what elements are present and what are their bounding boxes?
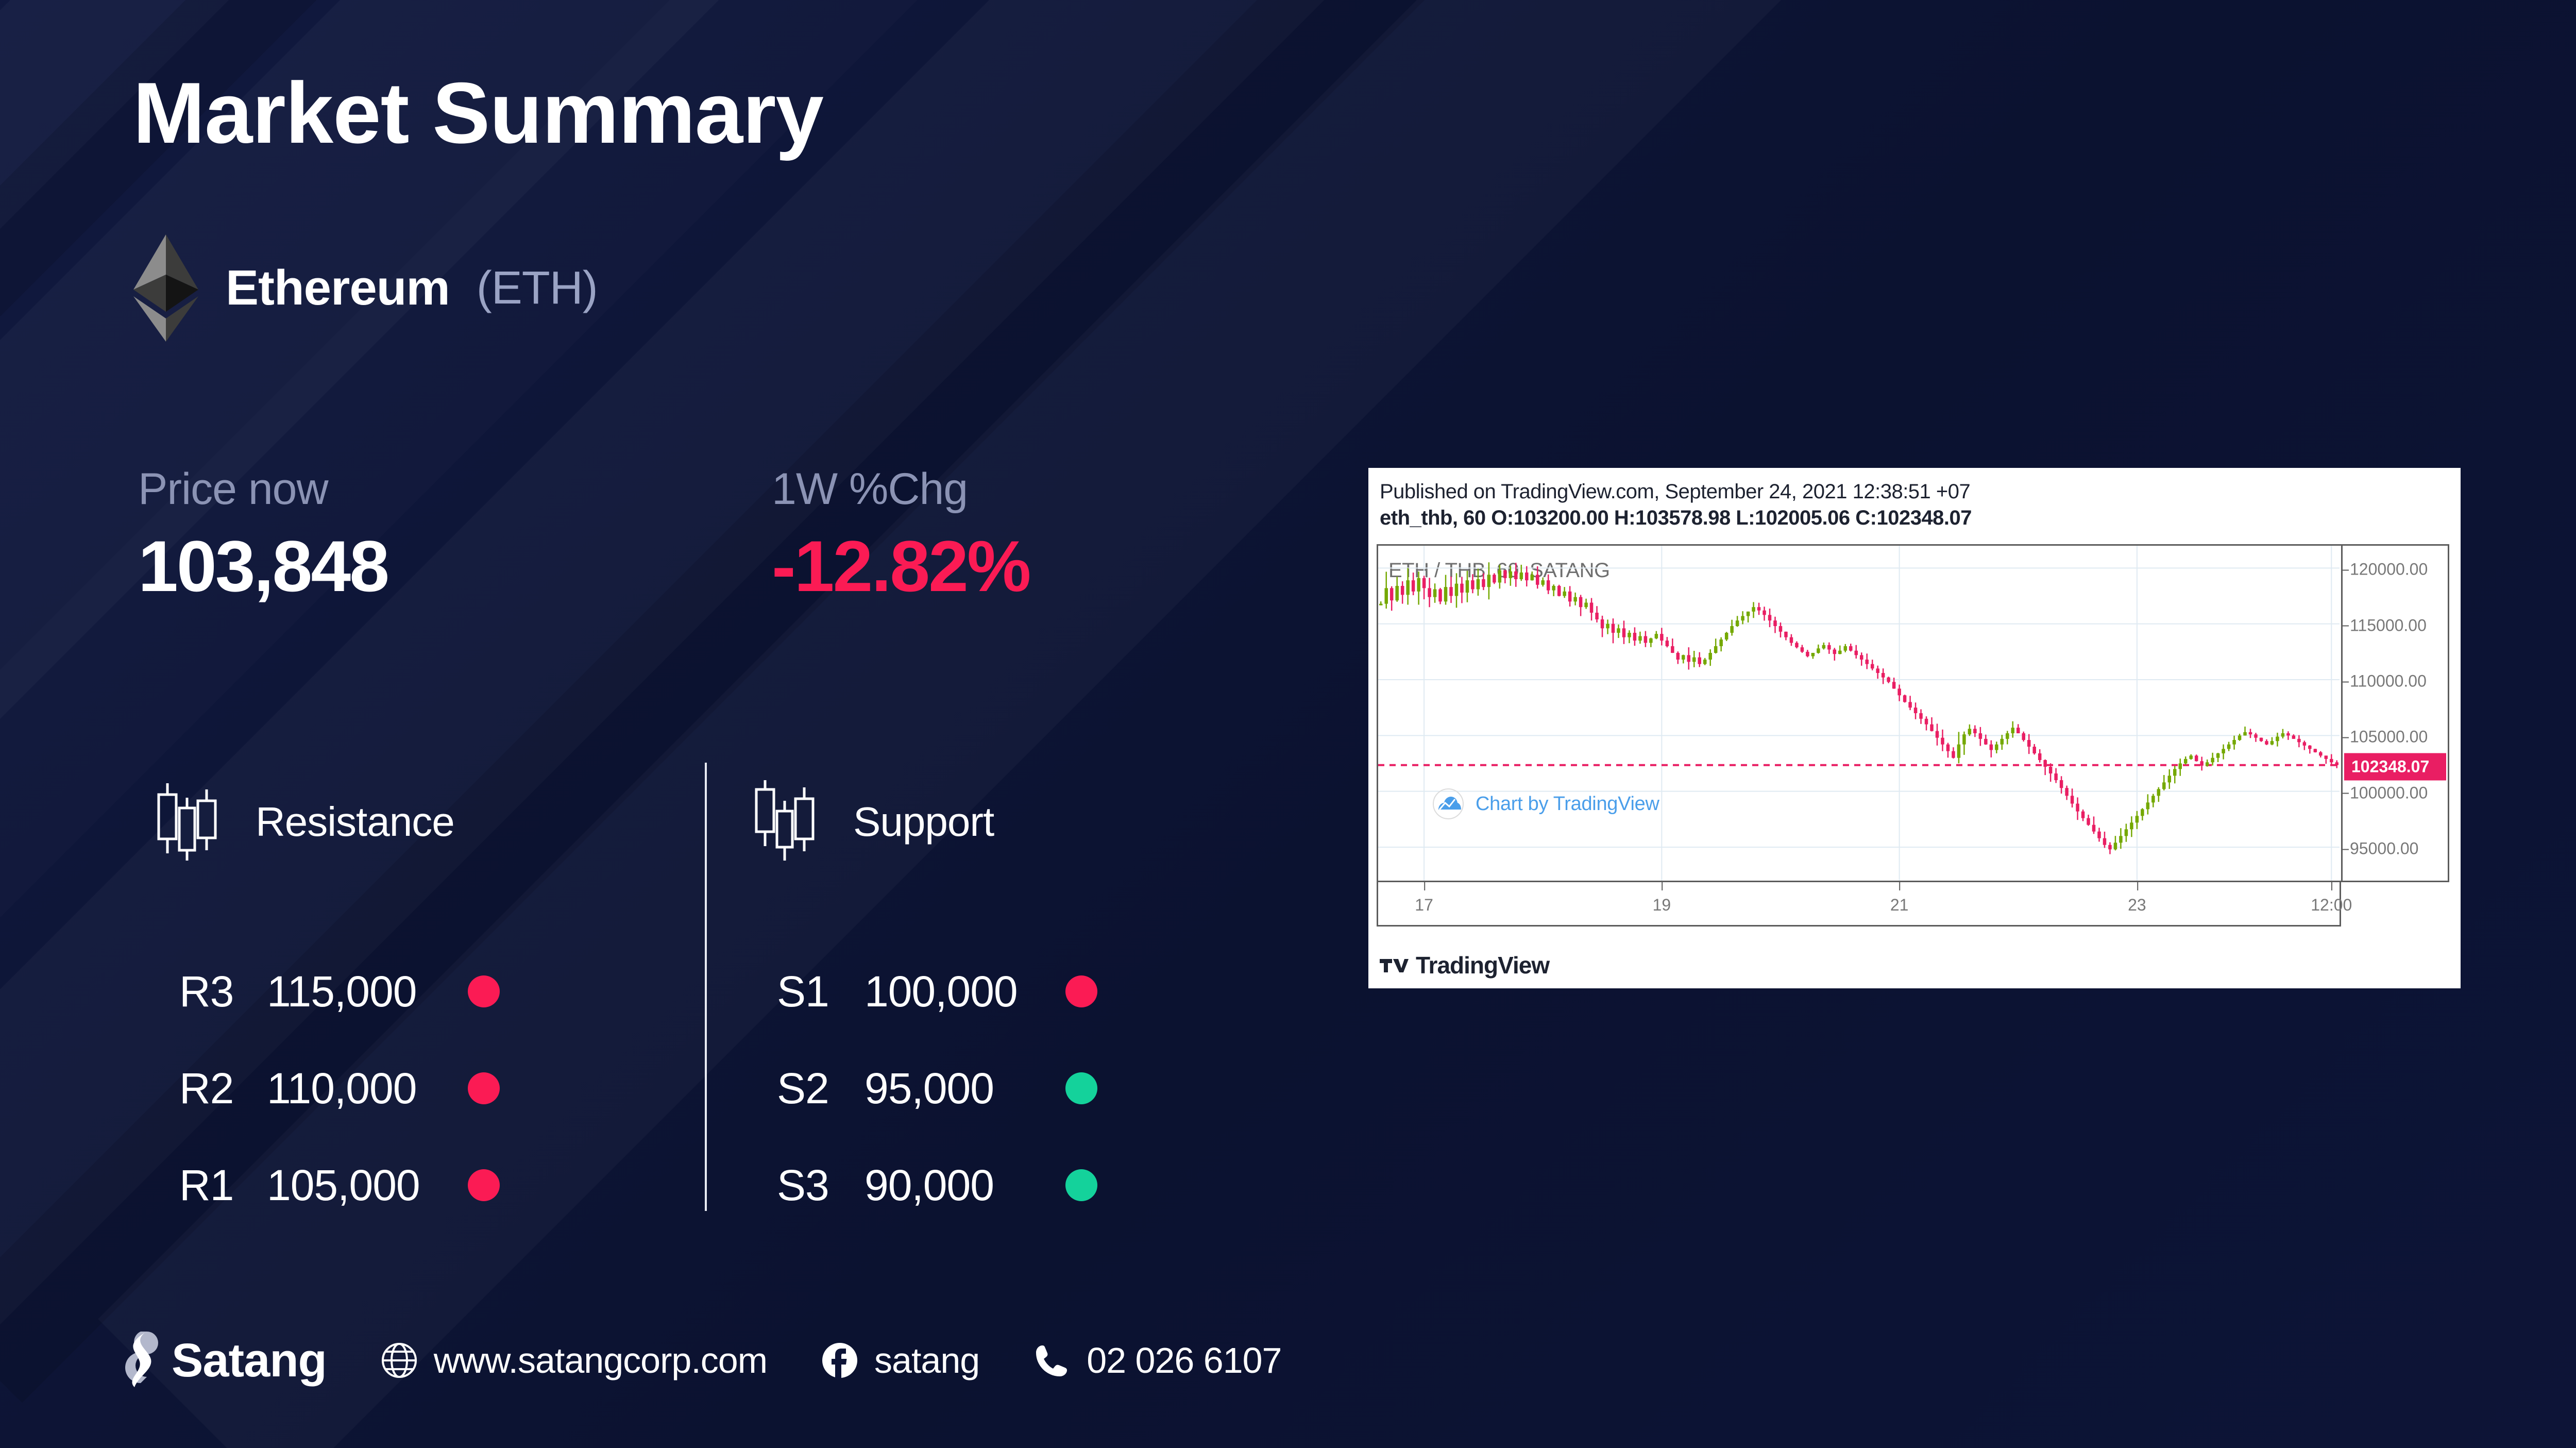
market-stats: Price now 103,848 1W %Chg -12.82% <box>138 464 1297 602</box>
support-row-s3: S3 90,000 <box>777 1160 1097 1210</box>
footer-website[interactable]: www.satangcorp.com <box>380 1340 767 1381</box>
stat-weekly-change: 1W %Chg -12.82% <box>772 464 1287 602</box>
resistance-row-r3: R3 115,000 <box>179 967 500 1017</box>
price-axis-tick: 110000.00 <box>2350 672 2427 691</box>
level-status-dot <box>468 1072 500 1104</box>
globe-icon <box>380 1341 418 1379</box>
level-value: 90,000 <box>865 1160 1065 1210</box>
asset-name: Ethereum <box>226 260 450 316</box>
price-now-value: 103,848 <box>138 530 772 602</box>
resistance-row-r1: R1 105,000 <box>179 1160 500 1210</box>
levels-row: R2 110,000 S2 95,000 <box>138 1040 1308 1137</box>
tradingview-logo-icon <box>1380 955 1409 975</box>
chart-plot-area[interactable]: ETH / THB, 60, SATANG Chart by TradingVi… <box>1377 544 2449 911</box>
weekly-change-label: 1W %Chg <box>772 464 1287 515</box>
level-status-dot <box>468 975 500 1007</box>
price-axis-tick: 120000.00 <box>2350 560 2428 579</box>
tradingview-brand-text: TradingView <box>1416 951 1549 979</box>
level-status-dot <box>1065 975 1097 1007</box>
candlestick-plot[interactable]: ETH / THB, 60, SATANG Chart by TradingVi… <box>1377 544 2341 882</box>
candlestick-icon <box>154 778 221 866</box>
asset-ticker: (ETH) <box>477 262 598 315</box>
time-axis-tick: 12:00 <box>2311 896 2352 915</box>
tradingview-brand[interactable]: TradingView <box>1380 951 1549 979</box>
brand-block: Satang <box>121 1329 327 1391</box>
facebook-text: satang <box>874 1340 979 1381</box>
time-axis-tick: 17 <box>1415 896 1433 915</box>
levels-row: R3 115,000 S1 100,000 <box>138 943 1308 1040</box>
footer-phone[interactable]: 02 026 6107 <box>1033 1340 1281 1381</box>
page-title: Market Summary <box>133 70 823 156</box>
satang-logo-icon <box>121 1329 160 1391</box>
published-line: Published on TradingView.com, September … <box>1380 480 2461 503</box>
watermark-text: Chart by TradingView <box>1476 793 1659 815</box>
tradingview-watermark: Chart by TradingView <box>1432 788 1659 820</box>
candlestick-icon <box>751 778 818 866</box>
level-tag: R3 <box>179 967 267 1017</box>
resistance-heading-block: Resistance <box>154 778 454 866</box>
support-resistance-section: Resistance Support R3 115,000 <box>138 773 1308 876</box>
price-axis-tick: 95000.00 <box>2350 839 2418 858</box>
level-tag: S2 <box>777 1064 865 1114</box>
facebook-icon <box>821 1341 859 1379</box>
time-axis-tick: 19 <box>1653 896 1671 915</box>
level-value: 110,000 <box>267 1064 468 1114</box>
support-row-s1: S1 100,000 <box>777 967 1097 1017</box>
time-axis: 1719212312:00 <box>1377 882 2341 927</box>
levels-headings: Resistance Support <box>138 773 1308 876</box>
candlestick-series <box>1378 546 2340 881</box>
website-text: www.satangcorp.com <box>434 1340 767 1381</box>
asset-header: Ethereum (ETH) <box>133 234 598 342</box>
level-status-dot <box>468 1169 500 1201</box>
price-axis-tick: 100000.00 <box>2350 783 2428 802</box>
support-row-s2: S2 95,000 <box>777 1064 1097 1114</box>
price-axis-tick: 115000.00 <box>2350 616 2427 635</box>
support-heading: Support <box>853 798 994 846</box>
level-value: 105,000 <box>267 1160 468 1210</box>
level-tag: R2 <box>179 1064 267 1114</box>
resistance-row-r2: R2 110,000 <box>179 1064 500 1114</box>
price-now-label: Price now <box>138 464 772 515</box>
level-tag: S3 <box>777 1160 865 1210</box>
stat-price-now: Price now 103,848 <box>138 464 772 602</box>
level-status-dot <box>1065 1169 1097 1201</box>
time-axis-tick: 23 <box>2128 896 2146 915</box>
level-tag: S1 <box>777 967 865 1017</box>
level-status-dot <box>1065 1072 1097 1104</box>
support-heading-block: Support <box>751 778 994 866</box>
time-axis-tick: 21 <box>1890 896 1909 915</box>
price-axis: 120000.00115000.00110000.00105000.001000… <box>2341 544 2449 882</box>
resistance-heading: Resistance <box>256 798 454 846</box>
levels-rows: R3 115,000 S1 100,000 R2 110,000 <box>138 943 1308 1234</box>
current-price-badge: 102348.07 <box>2344 753 2446 780</box>
level-value: 95,000 <box>865 1064 1065 1114</box>
tradingview-chart-card[interactable]: Published on TradingView.com, September … <box>1368 468 2461 988</box>
level-tag: R1 <box>179 1160 267 1210</box>
phone-icon <box>1033 1341 1071 1379</box>
price-axis-tick: 105000.00 <box>2350 728 2428 747</box>
ohlc-line: eth_thb, 60 O:103200.00 H:103578.98 L:10… <box>1380 507 2461 530</box>
brand-name: Satang <box>172 1334 327 1388</box>
ethereum-logo-icon <box>133 234 199 342</box>
tradingview-cloud-icon <box>1432 788 1464 820</box>
level-value: 115,000 <box>267 967 468 1017</box>
footer-facebook[interactable]: satang <box>821 1340 979 1381</box>
level-value: 100,000 <box>865 967 1065 1017</box>
phone-text: 02 026 6107 <box>1087 1340 1281 1381</box>
weekly-change-value: -12.82% <box>772 530 1287 602</box>
levels-row: R1 105,000 S3 90,000 <box>138 1137 1308 1234</box>
footer: Satang www.satangcorp.com satang <box>121 1329 1281 1391</box>
chart-header: Published on TradingView.com, September … <box>1368 468 2461 530</box>
